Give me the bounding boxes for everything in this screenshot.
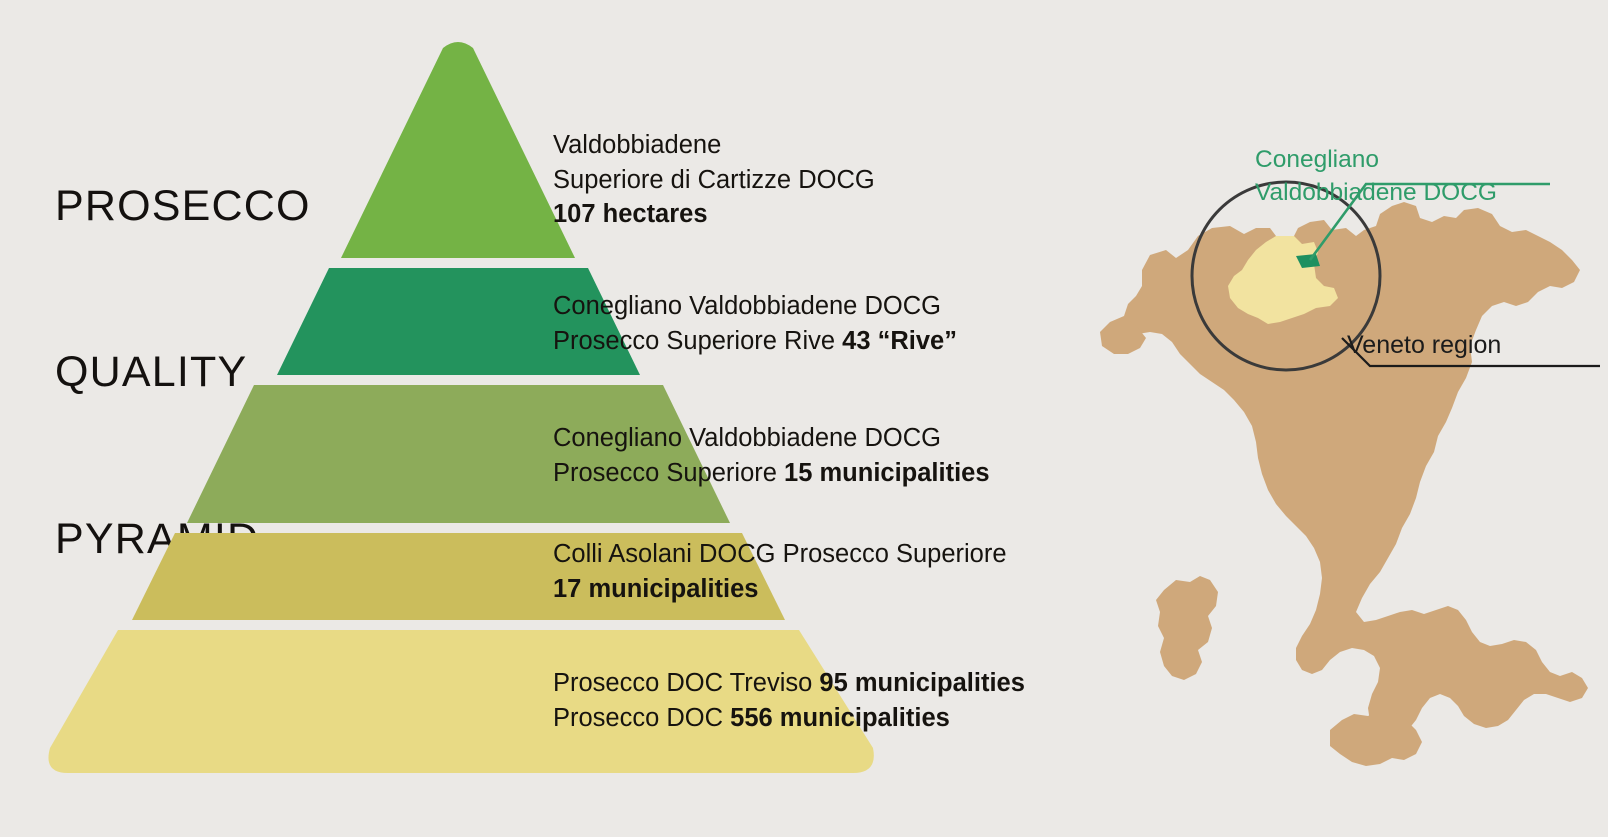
docg-map-label-line-2: Valdobbiadene DOCG [1255,177,1497,210]
tier-1-line-2: Superiore di Cartizze DOCG [553,163,875,198]
map-svg [1080,110,1600,790]
tier-2-label: Conegliano Valdobbiadene DOCG Prosecco S… [553,289,957,358]
tier-5-value-doc: 556 municipalities [730,704,950,732]
docg-map-label: Conegliano Valdobbiadene DOCG [1255,144,1497,209]
tier-5-label: Prosecco DOC Treviso 95 municipalities P… [553,666,1025,735]
italy-map: Conegliano Valdobbiadene DOCG Veneto reg… [1080,110,1600,790]
tier-5-line-2-prefix: Prosecco DOC [553,704,730,732]
infographic-canvas: PROSECCO QUALITY PYRAMID Valdobbiadene S… [0,0,1608,837]
tier-3-line-1: Conegliano Valdobbiadene DOCG [553,421,990,456]
tier-5-line-1-prefix: Prosecco DOC Treviso [553,669,819,697]
tier-4-value: 17 municipalities [553,575,759,603]
pyramid-tier-1-shape[interactable] [341,42,575,258]
tier-3-label: Conegliano Valdobbiadene DOCG Prosecco S… [553,421,990,490]
tier-5-value-treviso: 95 municipalities [819,669,1025,697]
tier-2-line-2-prefix: Prosecco Superiore Rive [553,327,842,355]
tier-2-line-1: Conegliano Valdobbiadene DOCG [553,289,957,324]
tier-1-line-1: Valdobbiadene [553,128,875,163]
tier-1-label: Valdobbiadene Superiore di Cartizze DOCG… [553,128,875,232]
sardinia-shape [1156,576,1218,680]
docg-map-label-line-1: Conegliano [1255,144,1497,177]
tier-4-label: Colli Asolani DOCG Prosecco Superiore 17… [553,537,1007,606]
veneto-region-label: Veneto region [1347,331,1501,360]
tier-2-value: 43 “Rive” [842,327,957,355]
tier-3-value: 15 municipalities [784,459,990,487]
tier-4-line-1: Colli Asolani DOCG Prosecco Superiore [553,537,1007,572]
tier-3-line-2-prefix: Prosecco Superiore [553,459,784,487]
tier-1-value: 107 hectares [553,200,708,228]
